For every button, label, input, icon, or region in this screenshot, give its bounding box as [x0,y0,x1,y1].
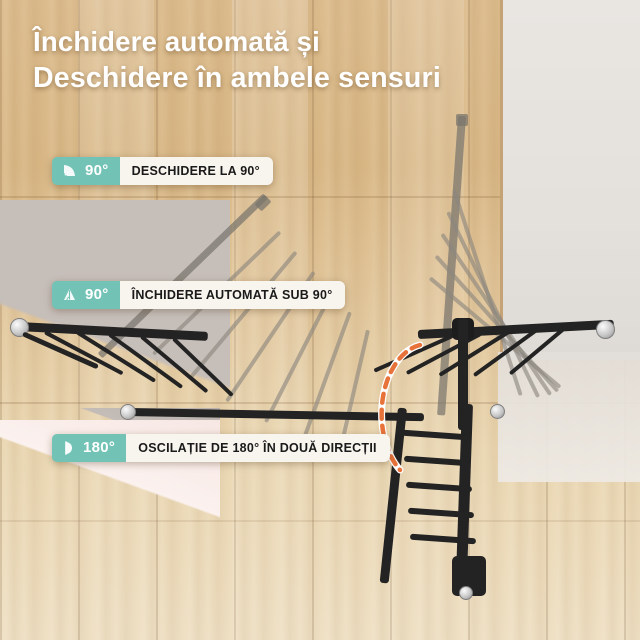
badge-label: DESCHIDERE LA 90° [120,157,273,185]
badge-degrees: 90° [85,162,109,179]
cone-angle-icon [61,287,78,303]
half-circle-icon [61,440,76,456]
badge-chip: 180° [52,434,126,462]
angle-90-icon-svg [61,163,78,179]
badge-swing-180: 180° OSCILAȚIE DE 180° ÎN DOUĂ DIRECȚII [52,434,390,462]
half-circle-icon-svg [61,440,76,456]
title-line-1: Închidere automată și [33,24,503,60]
badge-degrees: 180° [83,439,115,456]
badge-open-90: 90° DESCHIDERE LA 90° [52,157,273,185]
infographic-scene: Închidere automată și Deschidere în ambe… [0,0,640,640]
badge-label: OSCILAȚIE DE 180° ÎN DOUĂ DIRECȚII [126,434,390,462]
wall-panel-right [500,0,640,360]
page-title: Închidere automată și Deschidere în ambe… [33,24,503,96]
badge-autoclose-90: 90° ÎNCHIDERE AUTOMATĂ SUB 90° [52,281,345,309]
badge-chip: 90° [52,281,120,309]
badge-chip: 90° [52,157,120,185]
angle-90-icon [61,163,78,179]
title-line-2: Deschidere în ambele sensuri [33,60,503,96]
badge-label: ÎNCHIDERE AUTOMATĂ SUB 90° [120,281,346,309]
badge-degrees: 90° [85,286,109,303]
cone-angle-icon-svg [61,287,78,303]
wall-panel-right-lower [498,352,640,482]
